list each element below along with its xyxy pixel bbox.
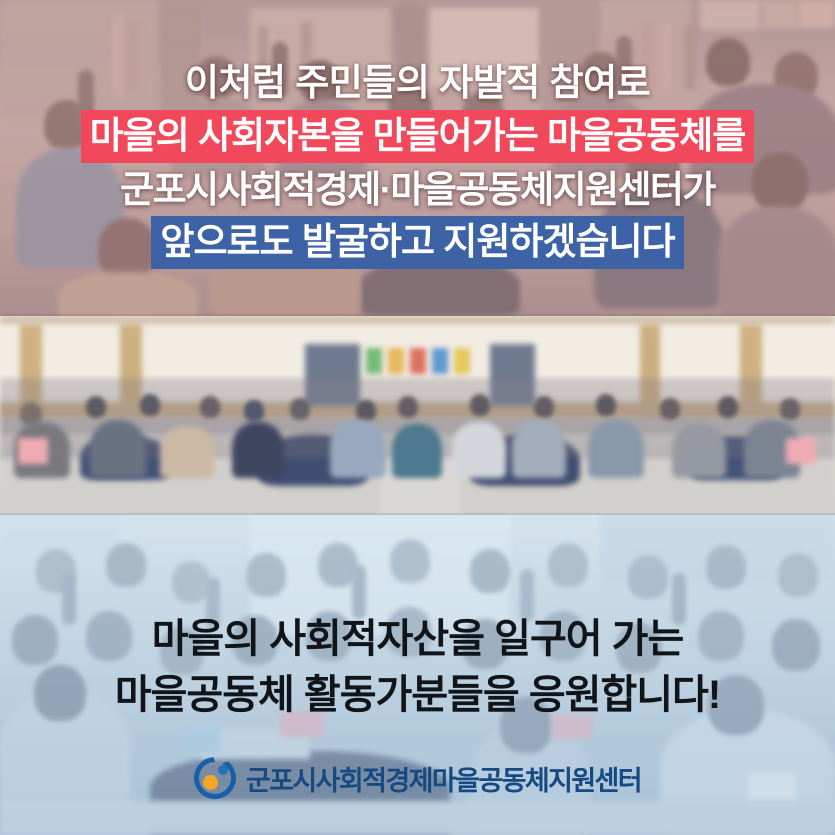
middle-photo-image: [0, 316, 835, 515]
headline-line-3: 군포시사회적경제·마을공동체지원센터가: [0, 163, 835, 214]
middle-photo-panel: [0, 316, 835, 515]
bottom-line-1: 마을의 사회적자산을 일구어 가는: [0, 613, 835, 669]
headline-line-4-highlight: 앞으로도 발굴하고 지원하겠습니다: [151, 216, 683, 269]
bottom-headline-block: 마을의 사회적자산을 일구어 가는 마을공동체 활동가분들을 응원합니다!: [0, 613, 835, 725]
logo-orange-dot-icon: [203, 775, 218, 790]
logo-text: 군포시사회적경제마을공동체지원센터: [246, 759, 641, 798]
poster-card: 이처럼 주민들의 자발적 참여로 마을의 사회자본을 만들어가는 마을공동체를 …: [0, 0, 835, 835]
center-logo: 군포시사회적경제마을공동체지원센터: [0, 757, 835, 799]
divider-top-mid: [0, 314, 835, 316]
headline-line-2-highlight: 마을의 사회자본을 만들어가는 마을공동체를: [81, 110, 755, 163]
divider-mid-bot: [0, 513, 835, 515]
gunpo-center-circle-logo-icon: [194, 757, 236, 799]
bottom-line-2: 마을공동체 활동가분들을 응원합니다!: [0, 669, 835, 725]
headline-line-1: 이처럼 주민들의 자발적 참여로: [0, 60, 835, 108]
top-photo-panel: 이처럼 주민들의 자발적 참여로 마을의 사회자본을 만들어가는 마을공동체를 …: [0, 0, 835, 316]
logo-blue-dot-icon: [218, 765, 228, 775]
top-headline-block: 이처럼 주민들의 자발적 참여로 마을의 사회자본을 만들어가는 마을공동체를 …: [0, 60, 835, 269]
